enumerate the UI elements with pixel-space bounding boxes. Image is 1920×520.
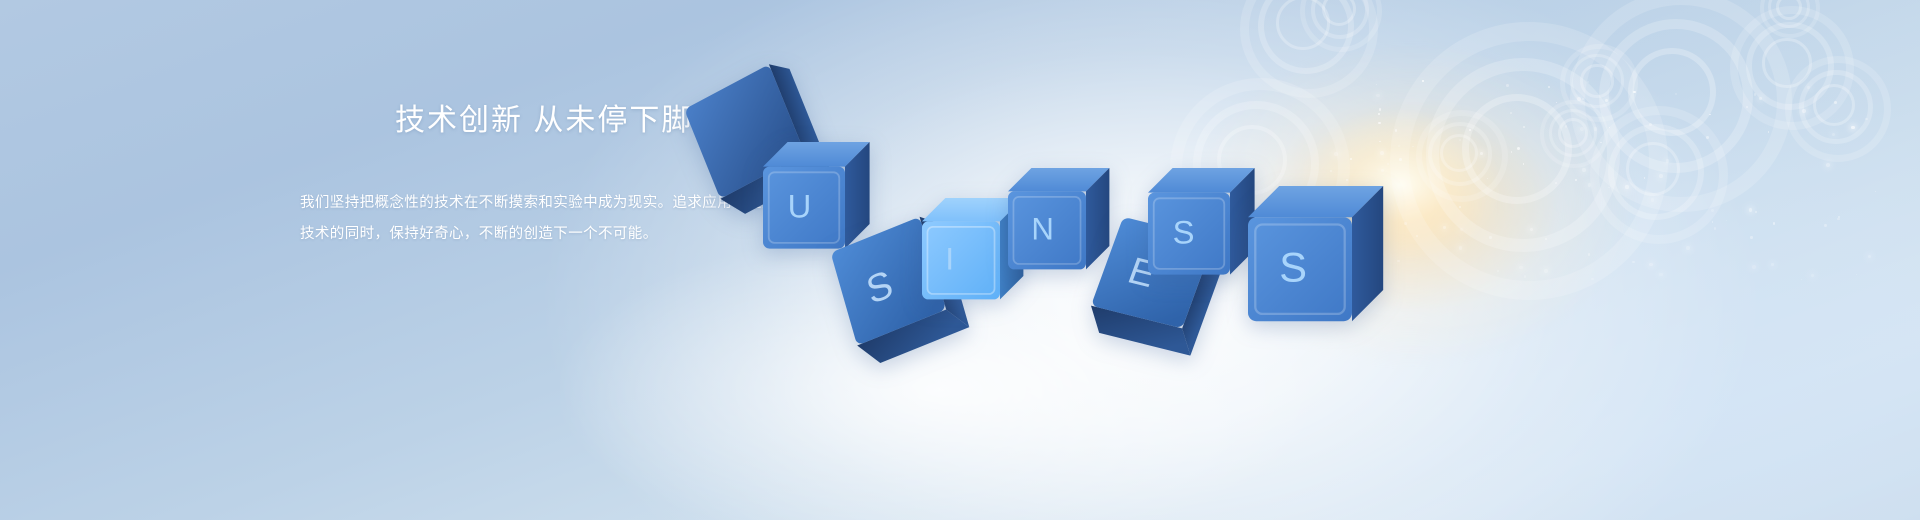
sparkle-dot — [1755, 211, 1757, 213]
sparkle-dot — [1600, 142, 1602, 144]
sparkle-dot — [1608, 187, 1610, 189]
ring-shape — [1628, 48, 1717, 137]
sparkle-dot — [1834, 101, 1837, 104]
ring-shape — [1590, 106, 1728, 244]
sparkle-dot — [1802, 109, 1806, 113]
ring-shape — [1580, 64, 1613, 97]
sparkle-dot — [1381, 169, 1384, 172]
ring-shape — [1549, 109, 1597, 157]
sparkle-dot — [1379, 141, 1380, 142]
sparkle-dot — [1714, 227, 1716, 229]
sparkle-dot — [1706, 136, 1709, 139]
sparkle-dot — [1582, 98, 1584, 100]
sparkle-dot — [1594, 127, 1598, 131]
sparkle-dot — [1771, 263, 1774, 266]
sparkle-dot — [1591, 278, 1593, 280]
sparkle-dot — [1649, 123, 1652, 126]
keycap-letter: I — [945, 242, 954, 277]
sparkle-dot — [1378, 113, 1381, 116]
sparkle-dot — [1837, 218, 1839, 220]
sparkle-dot — [1865, 118, 1867, 120]
sparkle-dot — [1523, 163, 1525, 165]
sparkle-dot — [1334, 152, 1338, 156]
sparkle-dot — [1480, 152, 1483, 155]
sparkle-dot — [1824, 224, 1826, 226]
ring-shape — [1416, 110, 1508, 202]
sparkle-dot — [1851, 126, 1855, 130]
sparkle-dot — [1625, 185, 1628, 188]
sparkle-dot — [1588, 183, 1592, 187]
sparkle-dot — [1545, 238, 1547, 240]
sparkle-particles-decoration — [1330, 80, 1890, 300]
sparkle-dot — [1548, 86, 1550, 88]
page-title: 技术创新 从未停下脚步 — [395, 100, 940, 142]
ring-shape — [1426, 58, 1620, 252]
sparkle-dot — [1487, 178, 1488, 179]
sparkle-dot — [1838, 216, 1841, 219]
sparkle-dot — [1376, 94, 1380, 98]
sparkle-dot — [1416, 235, 1418, 237]
ring-shape — [1322, 0, 1357, 26]
sparkle-dot — [1801, 279, 1802, 280]
sparkle-dot — [1686, 246, 1690, 250]
sparkle-dot — [1398, 145, 1400, 147]
sparkle-dot — [1675, 93, 1677, 95]
ring-shape — [1762, 38, 1811, 87]
keycap-s[interactable]: S — [1248, 186, 1391, 329]
ring-shape — [1570, 0, 1792, 212]
sparkle-dot — [1387, 163, 1389, 165]
sparkle-dot — [1875, 191, 1876, 192]
ring-shape — [1776, 0, 1803, 20]
ring-shape — [1276, 0, 1330, 50]
hero-banner: 技术创新 从未停下脚步 我们坚持把概念性的技术在不断摸索和实验中成为现实。追求应… — [0, 0, 1920, 520]
sparkle-dot — [1726, 220, 1727, 221]
ring-shape — [1311, 0, 1369, 39]
keycap-s[interactable]: S — [1148, 168, 1263, 283]
ring-shape — [1760, 0, 1820, 38]
sparkle-dot — [1380, 151, 1384, 155]
sparkle-dot — [1633, 91, 1636, 94]
sparkle-dot — [1397, 260, 1399, 262]
sparkle-dot — [1632, 261, 1634, 263]
sparkle-dot — [1759, 97, 1762, 100]
sparkle-dot — [1404, 222, 1407, 225]
sparkle-dot — [1807, 86, 1810, 89]
sparkle-dot — [1556, 102, 1557, 103]
ring-shape — [1608, 124, 1704, 220]
sparkle-dot — [1519, 266, 1522, 269]
sparkle-dot — [1666, 159, 1670, 163]
ring-shape — [1730, 6, 1854, 130]
sparkle-dot — [1750, 236, 1752, 238]
sparkle-dot — [1469, 129, 1471, 131]
sparkle-dot — [1379, 108, 1381, 110]
ring-shape — [1240, 0, 1378, 98]
sparkle-dot — [1711, 209, 1713, 211]
sparkle-dot — [1544, 269, 1548, 273]
ring-shape — [1785, 56, 1891, 162]
ring-shape — [1799, 70, 1873, 144]
sparkle-dot — [1510, 112, 1512, 114]
sparkle-dot — [1773, 222, 1776, 225]
sparkle-dot — [1523, 126, 1525, 128]
sparkle-dot — [1459, 139, 1461, 141]
sparkle-dot — [1530, 228, 1533, 231]
sparkle-dot — [1605, 99, 1608, 102]
sparkle-dot — [1659, 174, 1663, 178]
sparkle-dot — [1582, 168, 1586, 172]
sparkle-dot — [1649, 263, 1652, 266]
keycap-letter: S — [1279, 244, 1307, 291]
sparkle-dot — [1575, 179, 1577, 181]
ring-shape — [1300, 0, 1382, 52]
sparkle-dot — [1350, 158, 1353, 161]
ring-shape — [1746, 22, 1834, 110]
ring-shape — [1626, 142, 1680, 196]
ring-shape — [1258, 0, 1354, 74]
keycap-front-face — [922, 221, 1000, 299]
sparkle-dot — [1376, 84, 1377, 85]
sparkle-dot — [1577, 97, 1581, 101]
sparkle-dot — [1868, 255, 1871, 258]
sparkle-dot — [1768, 131, 1770, 133]
sparkle-dot — [1555, 182, 1557, 184]
sparkle-dot — [1754, 93, 1756, 95]
sparkle-dot — [1856, 274, 1857, 275]
sparkle-dot — [1346, 179, 1348, 181]
keycap-cluster: USINESS — [0, 0, 1920, 520]
sparkle-dot — [1651, 198, 1655, 202]
ring-shape — [1813, 84, 1856, 127]
ring-shape — [1428, 122, 1492, 186]
sparkle-dot — [1489, 236, 1491, 238]
sparkle-dot — [1752, 265, 1756, 269]
sparkle-dot — [1524, 275, 1526, 277]
sparkle-dot — [1832, 133, 1836, 137]
sparkle-dot — [1497, 270, 1499, 272]
keycap-letter: N — [1031, 212, 1054, 247]
sparkle-dot — [1511, 151, 1512, 152]
sparkle-dot — [1580, 127, 1584, 131]
sparkle-dot — [1399, 158, 1402, 161]
sparkle-dot — [1587, 81, 1590, 84]
sparkle-dot — [1712, 221, 1713, 222]
keycap-letter: U — [788, 187, 812, 224]
sparkle-dot — [1460, 228, 1463, 231]
ring-shape — [1599, 19, 1753, 173]
sparkle-dot — [1378, 122, 1380, 124]
ring-shape — [1462, 94, 1572, 204]
sparkle-dot — [1517, 147, 1520, 150]
ring-shape — [1768, 0, 1810, 28]
sparkle-dot — [1395, 129, 1398, 132]
concentric-rings-decoration — [1240, 0, 1920, 180]
ring-shape — [1440, 134, 1478, 172]
sparkle-dot — [1459, 246, 1463, 250]
sparkle-dot — [1746, 106, 1748, 108]
sparkle-dot — [1565, 125, 1568, 128]
ring-shape — [1558, 118, 1588, 148]
sparkle-dot — [1811, 274, 1814, 277]
sparkle-dot — [1412, 146, 1413, 147]
ring-shape — [1540, 100, 1608, 168]
sparkle-dot — [1330, 170, 1332, 172]
sparkle-dot — [1749, 208, 1753, 212]
ring-shape — [1390, 22, 1668, 300]
sparkle-dot — [1588, 253, 1590, 255]
sparkle-dot — [1506, 84, 1509, 87]
sparkle-dot — [1826, 163, 1830, 167]
sparkle-dot — [1422, 80, 1423, 81]
sparkle-dot — [1659, 273, 1662, 276]
sparkle-dot — [1443, 226, 1446, 229]
ring-shape — [1570, 54, 1624, 108]
keycap-letter: S — [1173, 213, 1195, 250]
sparkle-dot — [1644, 177, 1646, 179]
ring-shape — [1560, 44, 1638, 122]
sparkle-dot — [1609, 127, 1610, 128]
sparkle-dot — [1459, 206, 1462, 209]
sparkle-dot — [1709, 114, 1710, 115]
